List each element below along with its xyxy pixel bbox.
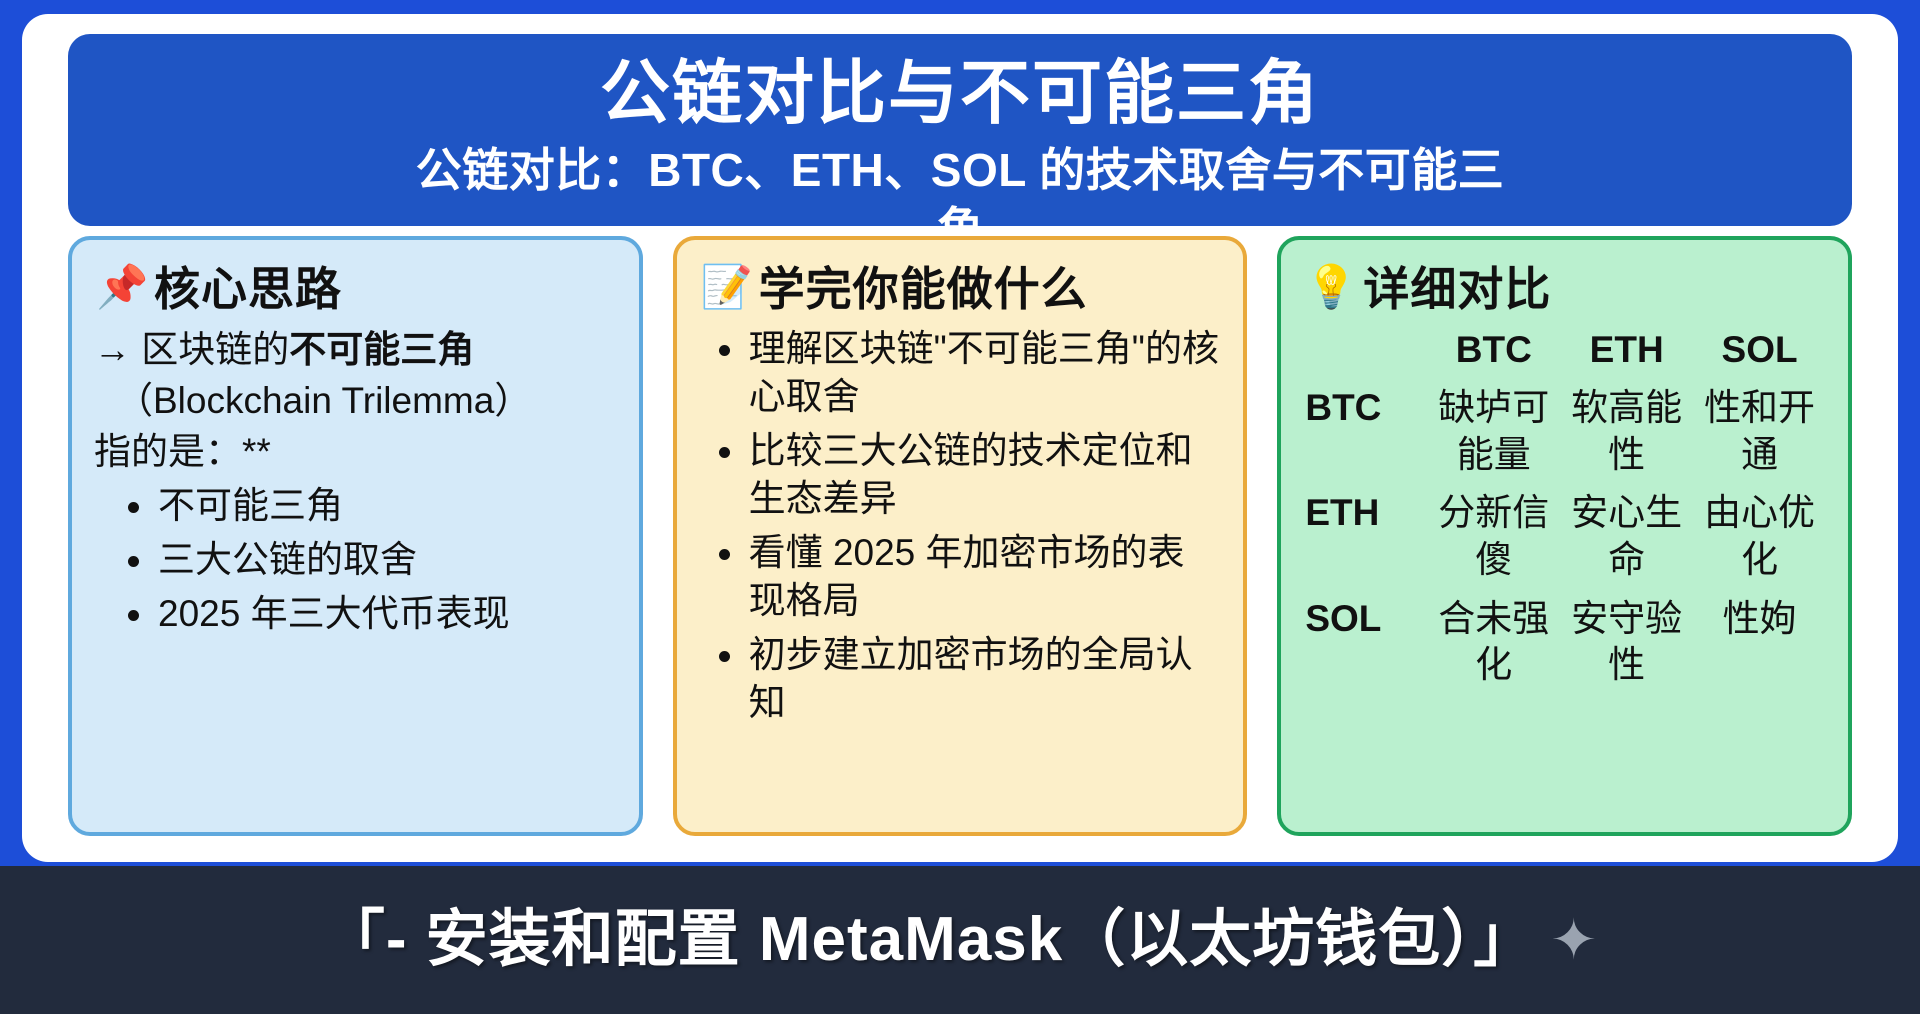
comparison-table-body: BTC 缺垆可能量 软高能性 性和开通 ETH 分新信傻 安心生命 由心优化: [1303, 383, 1826, 699]
list-item: 理解区块链"不可能三角"的核心取舍: [715, 325, 1222, 421]
table-cell: 分新信傻: [1427, 488, 1560, 593]
column-header-eth: ETH: [1560, 325, 1693, 384]
sparkle-icon: ✦: [1550, 912, 1597, 968]
column-header-sol: SOL: [1693, 325, 1826, 384]
table-cell: 性姁: [1693, 594, 1826, 699]
page-subtitle: 公链对比：BTC、ETH、SOL 的技术取舍与不可能三角: [415, 141, 1505, 226]
core-lead-sub: （Blockchain Trilemma）: [116, 376, 617, 425]
table-cell: 性和开通: [1693, 383, 1826, 488]
table-cell: 缺垆可能量: [1427, 383, 1560, 488]
list-item: 看懂 2025 年加密市场的表现格局: [715, 529, 1222, 625]
card-detailed-comparison-header: 💡 详细对比: [1305, 264, 1826, 315]
row-header-sol: SOL: [1303, 594, 1427, 699]
core-lead-bold: 不可能三角: [289, 329, 474, 370]
footer-caption-text: 「- 安装和配置 MetaMask（以太坊钱包）」: [323, 909, 1536, 971]
core-lead-line2: 指的是：**: [94, 427, 617, 476]
table-header-row: BTC ETH SOL: [1303, 325, 1826, 384]
card-detailed-comparison: 💡 详细对比 BTC ETH SOL BTC: [1277, 236, 1852, 836]
table-cell: 软高能性: [1560, 383, 1693, 488]
comparison-table: BTC ETH SOL BTC 缺垆可能量 软高能性 性和开通: [1303, 325, 1826, 699]
list-item: 初步建立加密市场的全局认知: [715, 631, 1222, 727]
table-cell: 安守验性: [1560, 594, 1693, 699]
header-banner: 公链对比与不可能三角 公链对比：BTC、ETH、SOL 的技术取舍与不可能三角: [68, 34, 1852, 226]
card-learning-outcomes-header: 📝 学完你能做什么: [701, 264, 1222, 315]
table-cell: 合未强化: [1427, 594, 1560, 699]
card-core-ideas-header: 📌 核心思路: [96, 264, 617, 315]
table-row: SOL 合未强化 安守验性 性姁: [1303, 594, 1826, 699]
list-item: 2025 年三大代币表现: [124, 590, 617, 638]
table-corner-cell: [1303, 325, 1427, 384]
slide-root: 公链对比与不可能三角 公链对比：BTC、ETH、SOL 的技术取舍与不可能三角 …: [0, 0, 1920, 1014]
table-cell: 安心生命: [1560, 488, 1693, 593]
pushpin-icon: 📌: [96, 266, 142, 312]
card-learning-outcomes-title: 学完你能做什么: [759, 264, 1088, 315]
list-item: 三大公链的取舍: [124, 536, 617, 584]
comparison-table-head: BTC ETH SOL: [1303, 325, 1826, 384]
footer-caption-bar: 「- 安装和配置 MetaMask（以太坊钱包）」 ✦: [0, 866, 1920, 1014]
lightbulb-icon: 💡: [1305, 266, 1351, 312]
row-header-eth: ETH: [1303, 488, 1427, 593]
list-item: 比较三大公链的技术定位和生态差异: [715, 427, 1222, 523]
table-row: ETH 分新信傻 安心生命 由心优化: [1303, 488, 1826, 593]
card-learning-outcomes: 📝 学完你能做什么 理解区块链"不可能三角"的核心取舍 比较三大公链的技术定位和…: [673, 236, 1248, 836]
page-title: 公链对比与不可能三角: [92, 52, 1828, 135]
cards-row: 📌 核心思路 → 区块链的不可能三角 （Blockchain Trilemma）…: [68, 236, 1852, 836]
page-canvas: 公链对比与不可能三角 公链对比：BTC、ETH、SOL 的技术取舍与不可能三角 …: [22, 14, 1898, 862]
card-core-ideas: 📌 核心思路 → 区块链的不可能三角 （Blockchain Trilemma）…: [68, 236, 643, 836]
card-detailed-comparison-title: 详细对比: [1363, 264, 1551, 315]
memo-icon: 📝: [701, 266, 747, 312]
core-bullet-list: 不可能三角 三大公链的取舍 2025 年三大代币表现: [94, 482, 617, 638]
core-lead-text: → 区块链的: [94, 329, 289, 370]
card-core-ideas-title: 核心思路: [154, 264, 342, 315]
list-item: 不可能三角: [124, 482, 617, 530]
row-header-btc: BTC: [1303, 383, 1427, 488]
column-header-btc: BTC: [1427, 325, 1560, 384]
core-lead-line: → 区块链的不可能三角: [94, 325, 617, 374]
table-row: BTC 缺垆可能量 软高能性 性和开通: [1303, 383, 1826, 488]
table-cell: 由心优化: [1693, 488, 1826, 593]
outcomes-bullet-list: 理解区块链"不可能三角"的核心取舍 比较三大公链的技术定位和生态差异 看懂 20…: [699, 325, 1222, 728]
